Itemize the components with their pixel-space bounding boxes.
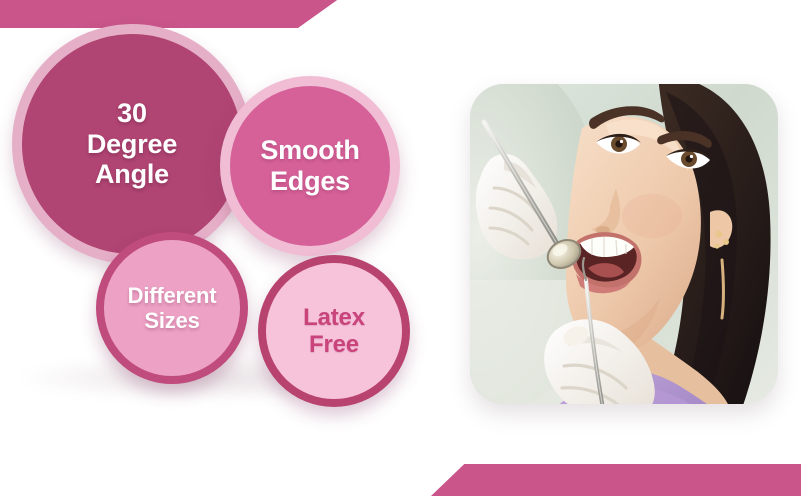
bottom-angled-banner (431, 464, 801, 496)
dental-patient-illustration (470, 84, 778, 404)
feature-circle-sizes: Different Sizes (96, 232, 248, 384)
dental-patient-photo (470, 84, 778, 404)
top-angled-banner (0, 0, 340, 28)
feature-circle-angle: 30 Degree Angle (12, 24, 252, 264)
feature-label-smooth: Smooth Edges (254, 135, 365, 197)
infographic-canvas: 30 Degree Angle Smooth Edges Latex Free … (0, 0, 801, 496)
feature-label-sizes: Different Sizes (122, 283, 223, 333)
feature-circle-latex: Latex Free (258, 255, 410, 407)
feature-label-angle: 30 Degree Angle (81, 98, 183, 190)
feature-label-latex: Latex Free (297, 304, 371, 359)
feature-circle-smooth: Smooth Edges (220, 76, 400, 256)
